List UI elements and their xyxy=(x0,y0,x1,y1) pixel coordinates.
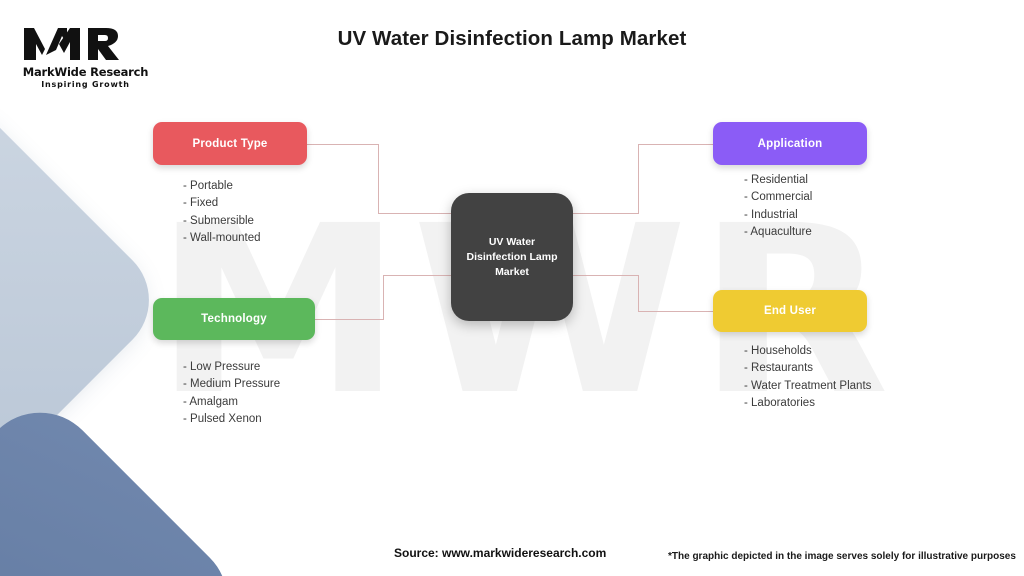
segment-node-technology[interactable]: Technology xyxy=(153,298,315,340)
list-item: - Submersible xyxy=(183,213,261,230)
list-item: - Households xyxy=(744,343,871,360)
disclaimer-text: *The graphic depicted in the image serve… xyxy=(668,551,1016,562)
segment-node-end-user[interactable]: End User xyxy=(713,290,867,332)
list-item: - Pulsed Xenon xyxy=(183,411,280,428)
segment-items-end-user: - Households - Restaurants - Water Treat… xyxy=(744,343,871,413)
list-item: - Portable xyxy=(183,178,261,195)
connector-end-user-horizontal-2 xyxy=(638,311,714,312)
list-item: - Restaurants xyxy=(744,360,871,377)
segment-items-application: - Residential - Commercial - Industrial … xyxy=(744,172,812,242)
segment-node-product-type[interactable]: Product Type xyxy=(153,122,307,165)
page-title: UV Water Disinfection Lamp Market xyxy=(0,27,1024,51)
segment-items-technology: - Low Pressure - Medium Pressure - Amalg… xyxy=(183,359,280,429)
connector-product-type-vertical xyxy=(378,144,379,214)
list-item: - Fixed xyxy=(183,195,261,212)
connector-product-type-horizontal-2 xyxy=(378,213,453,214)
source-label: Source: www.markwideresearch.com xyxy=(394,546,606,560)
segment-label-application: Application xyxy=(758,138,823,150)
list-item: - Laboratories xyxy=(744,395,871,412)
logo-tagline: Inspiring Growth xyxy=(18,80,153,89)
list-item: - Wall-mounted xyxy=(183,230,261,247)
list-item: - Amalgam xyxy=(183,394,280,411)
segment-label-end-user: End User xyxy=(764,305,816,317)
list-item: - Water Treatment Plants xyxy=(744,378,871,395)
list-item: - Commercial xyxy=(744,189,812,206)
connector-application-horizontal-2 xyxy=(638,144,714,145)
list-item: - Aquaculture xyxy=(744,224,812,241)
connector-product-type-horizontal-1 xyxy=(307,144,379,145)
connector-end-user-vertical xyxy=(638,275,639,312)
center-node-label: UV Water Disinfection Lamp Market xyxy=(460,235,564,280)
segment-node-application[interactable]: Application xyxy=(713,122,867,165)
connector-technology-vertical xyxy=(383,275,384,320)
segment-items-product-type: - Portable - Fixed - Submersible - Wall-… xyxy=(183,178,261,248)
list-item: - Medium Pressure xyxy=(183,376,280,393)
logo-company-name: MarkWide Research xyxy=(18,65,153,79)
connector-end-user-horizontal-1 xyxy=(571,275,639,276)
segment-label-product-type: Product Type xyxy=(192,138,267,150)
connector-application-vertical xyxy=(638,144,639,214)
segment-label-technology: Technology xyxy=(201,313,267,325)
infographic-canvas: MWR MarkWide Research Inspiring Growth U… xyxy=(0,0,1024,576)
center-node-market[interactable]: UV Water Disinfection Lamp Market xyxy=(451,193,573,321)
connector-application-horizontal-1 xyxy=(571,213,639,214)
list-item: - Low Pressure xyxy=(183,359,280,376)
list-item: - Residential xyxy=(744,172,812,189)
connector-technology-horizontal-1 xyxy=(315,319,384,320)
connector-technology-horizontal-2 xyxy=(383,275,453,276)
list-item: - Industrial xyxy=(744,207,812,224)
